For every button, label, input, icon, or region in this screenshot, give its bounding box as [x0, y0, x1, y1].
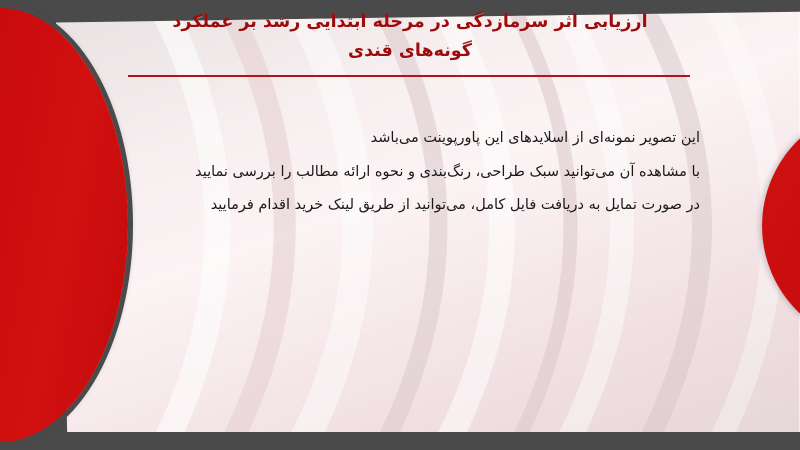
body-text-line-1: این تصویر نمونه‌ای از اسلایدهای این پاور…	[120, 122, 700, 156]
slide-body-text: این تصویر نمونه‌ای از اسلایدهای این پاور…	[120, 122, 700, 223]
presentation-slide: ارزیابی اثر سرمازدگی در مرحله ابتدایی رش…	[0, 0, 800, 450]
slide-title: ارزیابی اثر سرمازدگی در مرحله ابتدایی رش…	[110, 8, 710, 66]
body-text-line-2: با مشاهده آن می‌توانید سبک طراحی، رنگ‌بن…	[120, 156, 700, 190]
title-underline-rule	[128, 75, 690, 77]
slide-title-line-2: گونه‌های قندی	[110, 37, 710, 66]
slide-content: ارزیابی اثر سرمازدگی در مرحله ابتدایی رش…	[0, 0, 800, 450]
slide-title-line-1: ارزیابی اثر سرمازدگی در مرحله ابتدایی رش…	[110, 8, 710, 37]
body-text-line-3: در صورت تمایل به دریافت فایل کامل، می‌تو…	[120, 189, 700, 223]
